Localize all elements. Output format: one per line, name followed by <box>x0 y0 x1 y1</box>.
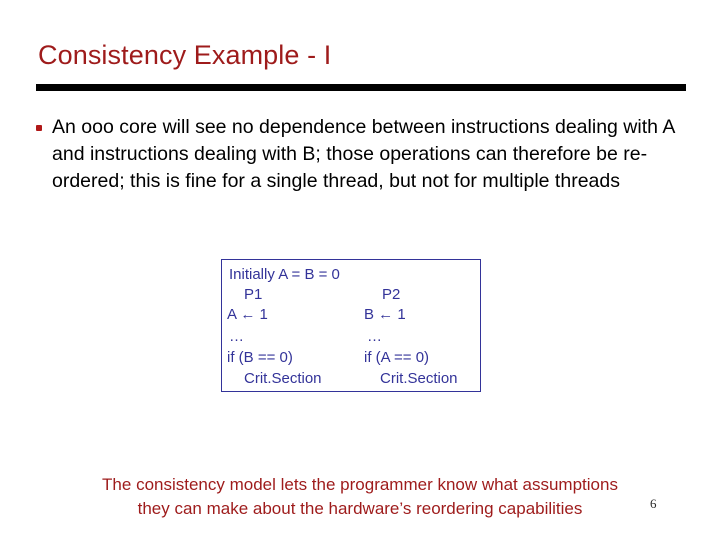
code-p1-if: if (B == 0) <box>227 348 293 367</box>
footer-statement: The consistency model lets the programme… <box>30 473 690 521</box>
code-p1-ellipsis: … <box>229 327 245 346</box>
code-p1-assign: A ← 1 <box>227 305 268 324</box>
square-bullet-icon <box>36 125 42 131</box>
bullet-list: An ooo core will see no dependence betwe… <box>30 114 695 195</box>
page-title: Consistency Example - I <box>38 38 678 72</box>
code-p2-assign: B ← 1 <box>364 305 406 324</box>
code-box-content: Initially A = B = 0 P1 P2 A ← 1 B ← 1 … … <box>222 260 480 391</box>
code-column-header-p1: P1 <box>244 285 262 304</box>
code-initial-condition: Initially A = B = 0 <box>229 265 340 284</box>
code-p2-if: if (A == 0) <box>364 348 429 367</box>
title-divider <box>36 84 686 91</box>
example-code-box: Initially A = B = 0 P1 P2 A ← 1 B ← 1 … … <box>221 259 481 392</box>
code-column-header-p2: P2 <box>382 285 400 304</box>
code-p2-ellipsis: … <box>367 327 383 346</box>
code-p2-critical-section: Crit.Section <box>380 369 458 388</box>
footer-line-2: they can make about the hardware’s reord… <box>30 497 690 521</box>
list-item: An ooo core will see no dependence betwe… <box>30 114 695 195</box>
footer-line-1: The consistency model lets the programme… <box>30 473 690 497</box>
code-p1-critical-section: Crit.Section <box>244 369 322 388</box>
page-number: 6 <box>650 496 657 512</box>
slide-canvas: Consistency Example - I An ooo core will… <box>0 0 720 540</box>
bullet-text: An ooo core will see no dependence betwe… <box>52 116 674 192</box>
